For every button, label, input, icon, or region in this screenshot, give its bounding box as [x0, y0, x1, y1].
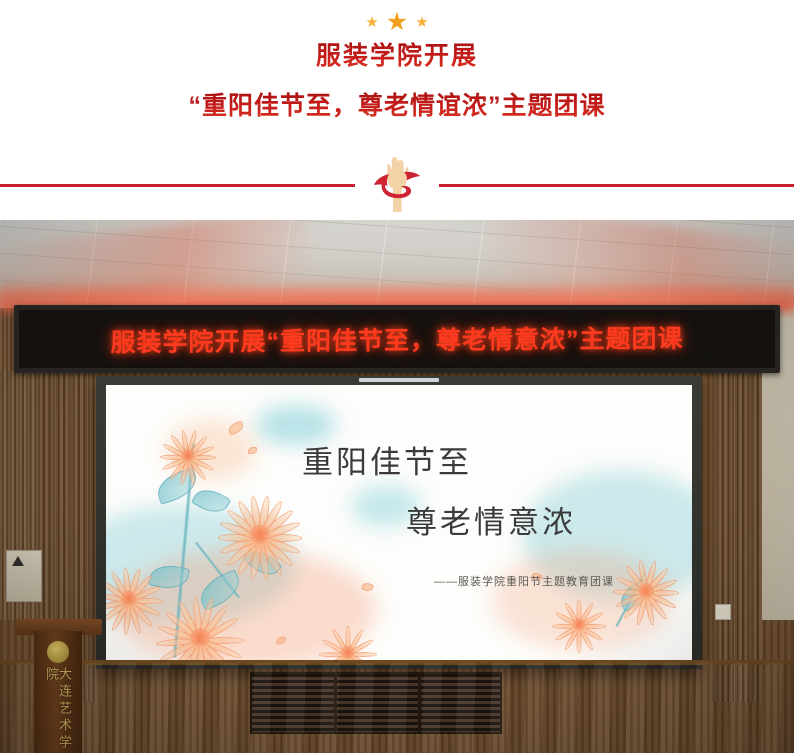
led-banner: 服装学院开展“重阳佳节至，尊老情意浓”主题团课: [14, 305, 780, 373]
slide-subtitle: ——服装学院重阳节主题教育团课: [434, 573, 614, 589]
screen-top-handle: [359, 378, 439, 382]
podium-institution-text: 大连艺术学院: [45, 667, 71, 753]
chrysanthemum-4: [152, 597, 248, 660]
page-title-line-2: “重阳佳节至，尊老情谊浓”主题团课: [188, 90, 605, 124]
chrysanthemum-7: [550, 597, 608, 651]
wood-pillar-right: [712, 372, 762, 702]
star-icon-center: ★: [386, 10, 408, 35]
wall-outlet: [715, 604, 731, 620]
torch-hand-ribbon-icon: [367, 150, 427, 216]
slide-title-line-1: 重阳佳节至: [302, 437, 472, 482]
chrysanthemum-2: [214, 491, 306, 577]
podium-body: 大连艺术学院: [34, 631, 82, 753]
podium-emblem-icon: [47, 641, 69, 663]
star-decoration-row: ★ ★ ★: [365, 11, 428, 33]
chrysanthemum-1: [158, 425, 218, 485]
star-icon-right: ★: [415, 15, 428, 30]
lecture-hall-photo: 服装学院开展“重阳佳节至，尊老情意浓”主题团课: [0, 220, 794, 753]
section-divider: [0, 150, 794, 218]
divider-rule-right: [439, 184, 794, 187]
stage-floor: [0, 663, 794, 753]
slide-title-line-2: 尊老情意浓: [406, 497, 576, 542]
article-header: ★ ★ ★ 服装学院开展 “重阳佳节至，尊老情谊浓”主题团课: [0, 0, 794, 220]
page-title-line-1: 服装学院开展: [316, 40, 478, 74]
ceiling: [0, 220, 794, 308]
warning-triangle-icon: [12, 556, 24, 566]
podium: 大连艺术学院: [16, 601, 102, 753]
projection-screen-bezel: 重阳佳节至 尊老情意浓 ——服装学院重阳节主题教育团课: [96, 376, 702, 669]
presentation-slide: 重阳佳节至 尊老情意浓 ——服装学院重阳节主题教育团课: [106, 385, 692, 660]
star-icon-left: ★: [365, 15, 378, 30]
chrysanthemum-5: [610, 557, 682, 623]
led-banner-text: 服装学院开展“重阳佳节至，尊老情意浓”主题团课: [19, 318, 775, 359]
divider-rule-left: [0, 184, 355, 187]
chrysanthemum-6: [316, 623, 380, 660]
